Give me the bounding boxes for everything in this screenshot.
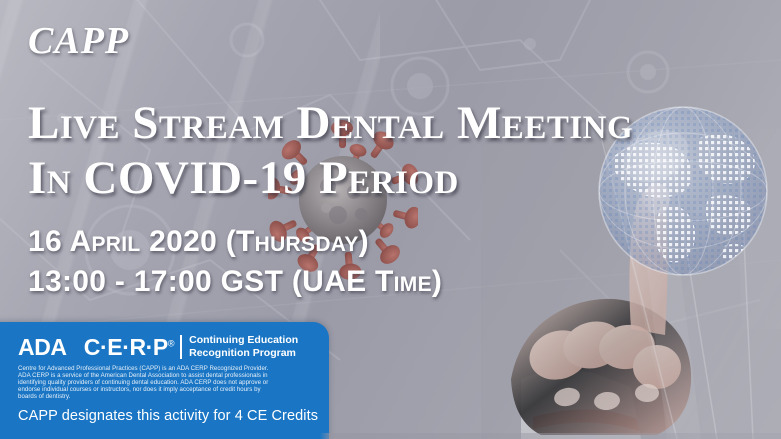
promo-banner: CAPP Live Stream Dental Meeting In COVID… (0, 0, 781, 439)
cerp-text: C·E·R·P (84, 334, 168, 360)
program-line-1: Continuing Education (189, 334, 298, 347)
divider (180, 335, 182, 359)
event-time: 13:00 - 17:00 GST (UAE Time) (28, 262, 442, 302)
cerp-program-name: Continuing Education Recognition Program (189, 334, 298, 360)
event-schedule: 16 April 2020 (Thursday) 13:00 - 17:00 G… (28, 222, 442, 302)
event-date: 16 April 2020 (Thursday) (28, 222, 442, 262)
ada-cerp-logo: ADA C·E·R·P® Continuing Education Recogn… (18, 334, 319, 360)
program-line-2: Recognition Program (189, 347, 298, 360)
title-line-1: Live Stream Dental Meeting (28, 96, 718, 151)
ce-credits-statement: CAPP designates this activity for 4 CE C… (18, 408, 319, 424)
registered-trademark-icon: ® (168, 338, 174, 348)
disclaimer-line-5: boards of dentistry. (18, 394, 288, 401)
ada-cerp-badge: ADA C·E·R·P® Continuing Education Recogn… (0, 322, 329, 439)
ada-text: ADA (18, 334, 66, 360)
title-line-2: In COVID-19 Period (28, 151, 718, 206)
ada-cerp-wordmark: ADA C·E·R·P® (18, 336, 174, 359)
cerp-disclaimer: Centre for Advanced Professional Practic… (18, 366, 288, 401)
capp-logo: CAPP (28, 22, 129, 60)
page-title: Live Stream Dental Meeting In COVID-19 P… (28, 96, 718, 206)
